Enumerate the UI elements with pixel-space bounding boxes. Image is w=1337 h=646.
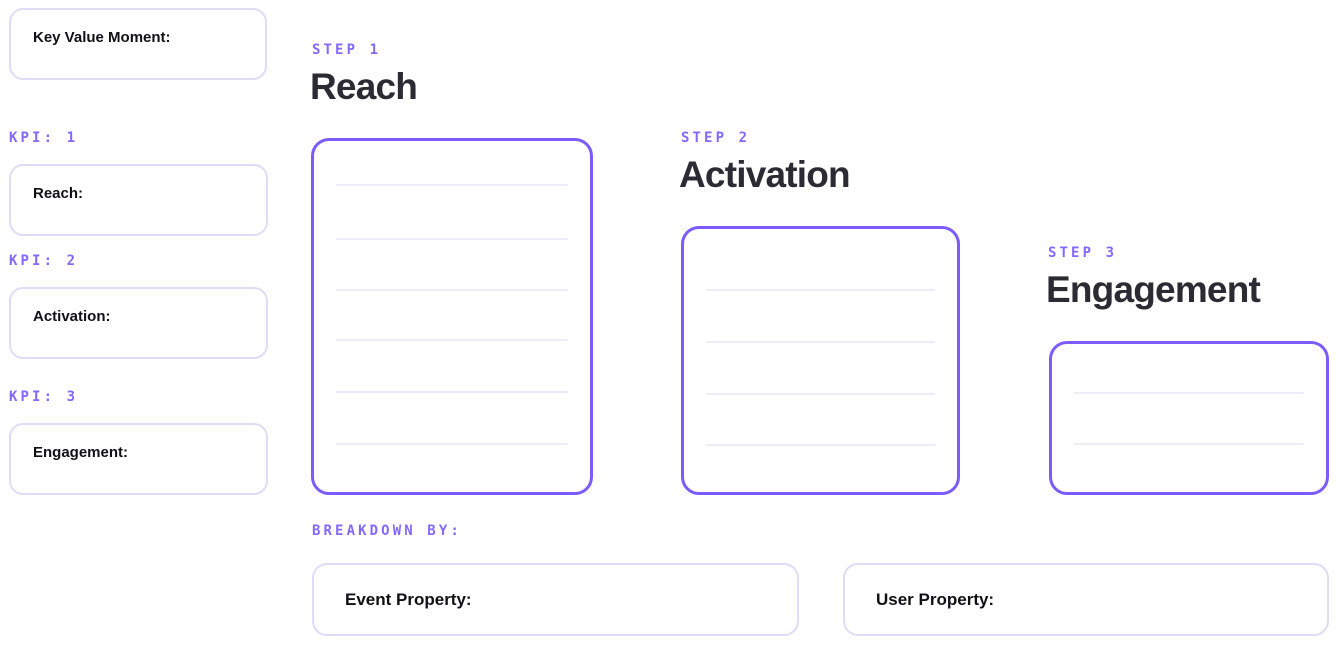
kpi-3-card[interactable]: Engagement: <box>9 423 268 495</box>
step-1-eyebrow: STEP 1 <box>312 43 381 57</box>
kpi-1-label: Reach: <box>11 166 83 201</box>
note-rule <box>706 289 935 291</box>
note-rule <box>1074 392 1304 394</box>
user-property-label: User Property: <box>845 591 994 608</box>
event-property-label: Event Property: <box>314 591 472 608</box>
note-rule <box>706 444 935 446</box>
note-rule <box>336 289 568 291</box>
user-property-card[interactable]: User Property: <box>843 563 1329 636</box>
note-rule <box>336 184 568 186</box>
kpi-3-eyebrow: KPI: 3 <box>9 390 78 404</box>
step-3-notes-card[interactable] <box>1049 341 1329 495</box>
kpi-1-eyebrow: KPI: 1 <box>9 131 78 145</box>
kpi-1-card[interactable]: Reach: <box>9 164 268 236</box>
note-rule <box>336 443 568 445</box>
step-2-eyebrow: STEP 2 <box>681 131 750 145</box>
note-rule <box>336 238 568 240</box>
step-3-title: Engagement <box>1046 271 1260 308</box>
kpi-2-label: Activation: <box>11 289 111 324</box>
event-property-card[interactable]: Event Property: <box>312 563 799 636</box>
step-3-eyebrow: STEP 3 <box>1048 246 1117 260</box>
kpi-3-label: Engagement: <box>11 425 128 460</box>
note-rule <box>336 339 568 341</box>
step-2-notes-card[interactable] <box>681 226 960 495</box>
note-rule <box>706 393 935 395</box>
note-rule <box>1074 443 1304 445</box>
breakdown-by-eyebrow: BREAKDOWN BY: <box>312 524 462 538</box>
key-value-moment-card[interactable]: Key Value Moment: <box>9 8 267 80</box>
worksheet-canvas: Key Value Moment: KPI: 1 Reach: KPI: 2 A… <box>0 0 1337 646</box>
note-rule <box>706 341 935 343</box>
kpi-2-card[interactable]: Activation: <box>9 287 268 359</box>
note-rule <box>336 391 568 393</box>
step-2-title: Activation <box>679 156 850 193</box>
step-1-notes-card[interactable] <box>311 138 593 495</box>
kpi-2-eyebrow: KPI: 2 <box>9 254 78 268</box>
step-1-title: Reach <box>310 68 417 105</box>
key-value-moment-label: Key Value Moment: <box>11 10 171 45</box>
